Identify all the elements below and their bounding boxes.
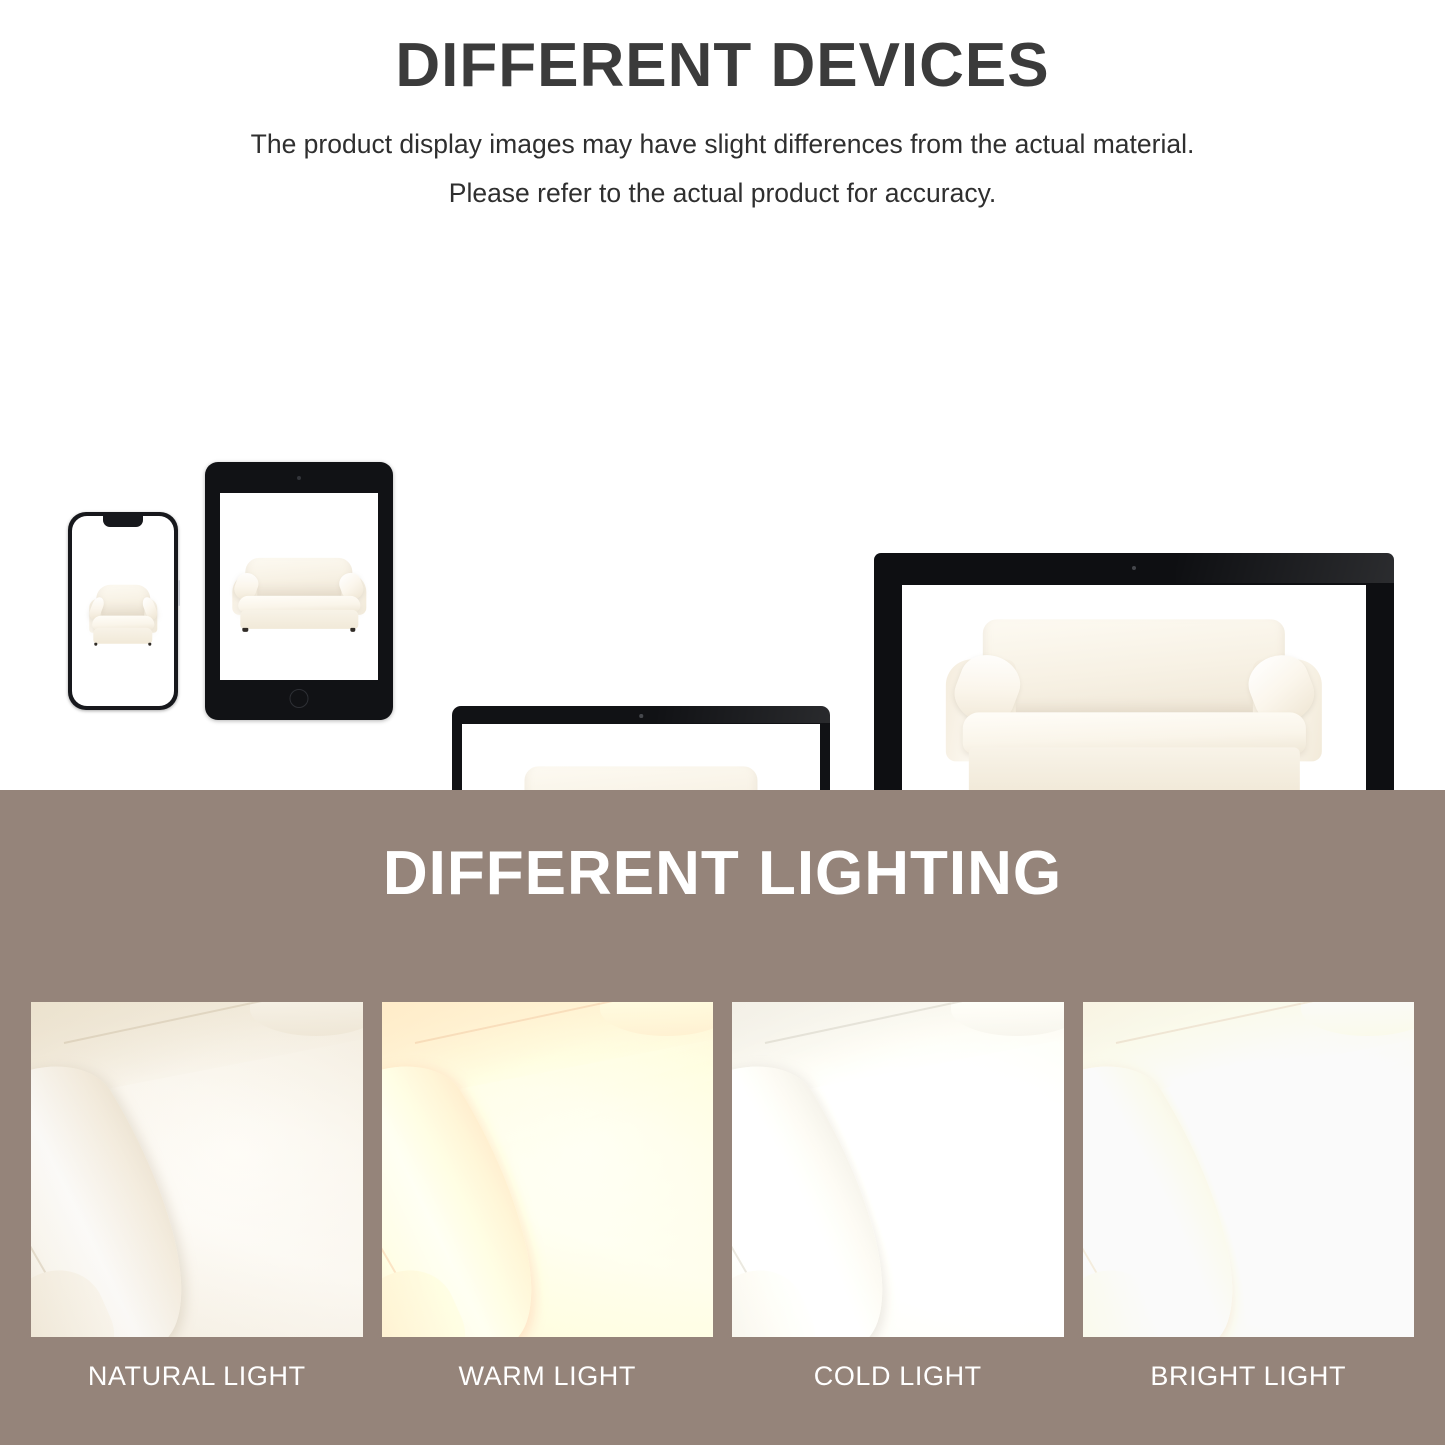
lighting-label-cold: COLD LIGHT (732, 1354, 1064, 1398)
devices-title-block: DIFFERENT DEVICES The product display im… (0, 30, 1445, 206)
lighting-tile-bright (1083, 1002, 1415, 1337)
tablet-body (205, 462, 393, 720)
sofa-base (93, 628, 152, 644)
sofa-foot-right (350, 628, 356, 632)
lighting-tile-row (31, 1002, 1414, 1337)
laptop-screen-glare (656, 706, 830, 723)
lighting-title: DIFFERENT LIGHTING (0, 838, 1445, 909)
lighting-label-natural: NATURAL LIGHT (31, 1354, 363, 1398)
fabric-vignette (382, 1002, 714, 1337)
devices-subtitle-line-1: The product display images may have slig… (0, 131, 1445, 158)
sofa-backrest (245, 558, 353, 596)
laptop-camera-icon (639, 714, 643, 718)
lighting-tile-warm (382, 1002, 714, 1337)
smartphone-body (68, 512, 178, 710)
page-title: DIFFERENT DEVICES (0, 30, 1445, 101)
sofa-fabric-closeup (31, 1002, 363, 1337)
tablet-camera-icon (297, 476, 301, 480)
sofa-foot-left (242, 628, 248, 632)
tablet-home-button[interactable] (290, 689, 309, 708)
smartphone-screen (72, 516, 174, 706)
tablet-mockup (205, 462, 393, 720)
sofa-foot-left (94, 643, 97, 646)
sofa-foot-right (149, 643, 152, 646)
fabric-vignette (732, 1002, 1064, 1337)
sofa-product-image (220, 493, 378, 680)
devices-subtitle-line-2: Please refer to the actual product for a… (0, 180, 1445, 207)
monitor-camera-icon (1132, 566, 1136, 570)
sofa-fabric-closeup (382, 1002, 714, 1337)
lighting-label-bright: BRIGHT LIGHT (1083, 1354, 1415, 1398)
lighting-label-warm: WARM LIGHT (382, 1354, 714, 1398)
smartphone-side-button (178, 580, 180, 606)
fabric-vignette (1083, 1002, 1415, 1337)
different-lighting-section: DIFFERENT LIGHTING (0, 790, 1445, 1445)
sofa-base (969, 747, 1300, 794)
lighting-tile-natural (31, 1002, 363, 1337)
smartphone-mockup (68, 512, 178, 710)
smartphone-notch-icon (103, 516, 143, 527)
tablet-screen (220, 493, 378, 680)
sofa-base (240, 610, 358, 629)
sofa-backrest (983, 619, 1285, 713)
lighting-label-row: NATURAL LIGHT WARM LIGHT COLD LIGHT BRIG… (31, 1354, 1414, 1398)
sofa-fabric-closeup (732, 1002, 1064, 1337)
sofa-fabric-closeup (1083, 1002, 1415, 1337)
device-mockup-row (0, 270, 1445, 730)
different-devices-section: DIFFERENT DEVICES The product display im… (0, 0, 1445, 790)
sofa-product-image (72, 516, 174, 706)
fabric-vignette (31, 1002, 363, 1337)
monitor-screen-glare (1176, 553, 1394, 583)
lighting-tile-cold (732, 1002, 1064, 1337)
